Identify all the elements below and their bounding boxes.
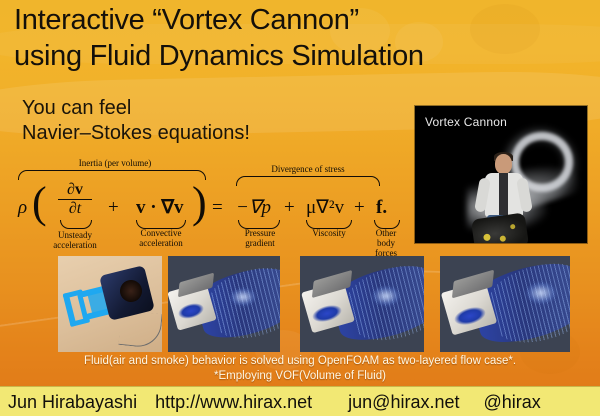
unsteady-label: Unsteady acceleration [32, 230, 118, 250]
website-link[interactable]: http://www.hirax.net [155, 392, 312, 412]
caption-line-1: Fluid(air and smoke) behavior is solved … [84, 355, 516, 367]
cannon-highlight [499, 235, 506, 242]
handheld-cannon [471, 212, 529, 243]
convective-label: Convective acceleration [120, 228, 202, 248]
author-name: Jun Hirabayashi [8, 392, 137, 412]
person-head [495, 154, 512, 174]
viscosity-label: Viscosity [296, 228, 362, 238]
viscosity-term: μ∇²v [306, 198, 344, 217]
unsteady-numerator: ∂v [58, 182, 92, 198]
caption-line-2: *Employing VOF(Volume of Fluid) [0, 369, 600, 384]
person-strap [499, 173, 508, 215]
divergence-brace [236, 176, 380, 186]
close-paren: ) [192, 188, 207, 218]
density-symbol: ρ [18, 198, 27, 217]
cfd-smoke-ring [372, 286, 400, 306]
subtitle: You can feel Navier–Stokes equations! [22, 96, 402, 146]
equals-operator: = [212, 198, 223, 217]
unsteady-term: ∂v ∂t [58, 182, 92, 217]
pressure-term: −∇p [236, 198, 271, 217]
cannon-highlight [483, 233, 491, 241]
unsteady-underbrace [60, 220, 92, 229]
convective-term: v · ∇v [136, 198, 184, 217]
cfd-panel-2 [300, 256, 424, 352]
slide-root: Interactive “Vortex Cannon” using Fluid … [0, 0, 600, 416]
plus-operator-1: + [108, 198, 119, 217]
body-force-term: f. [376, 198, 387, 217]
inertia-brace-label: Inertia (per volume) [40, 158, 190, 168]
photo-caption: Vortex Cannon [425, 115, 507, 129]
hardware-photo-panel [58, 256, 162, 352]
twitter-handle[interactable]: @hirax [484, 392, 541, 412]
open-paren: ( [32, 188, 47, 218]
navier-stokes-equation: Inertia (per volume) Divergence of stres… [8, 158, 408, 254]
divergence-brace-label: Divergence of stress [232, 164, 384, 174]
email-link[interactable]: jun@hirax.net [348, 392, 459, 412]
plus-operator-3: + [354, 198, 365, 217]
body-force-label: Other body forces [364, 228, 408, 258]
simulation-caption: Fluid(air and smoke) behavior is solved … [0, 354, 600, 384]
cfd-smoke-ring [526, 282, 556, 304]
cfd-panel-3 [440, 256, 570, 352]
plus-operator-2: + [284, 198, 295, 217]
unsteady-denominator: ∂t [58, 201, 92, 217]
cannon-highlight [510, 224, 516, 230]
page-title: Interactive “Vortex Cannon” using Fluid … [14, 2, 594, 74]
pressure-label: Pressure gradient [230, 228, 290, 248]
vortex-cannon-photo: Vortex Cannon [415, 106, 587, 243]
footer-bar: Jun Hirabayashi http://www.hirax.net jun… [0, 386, 600, 416]
cfd-panel-1 [168, 256, 280, 352]
cfd-smoke-ring [230, 288, 256, 306]
person-figure [475, 154, 533, 243]
